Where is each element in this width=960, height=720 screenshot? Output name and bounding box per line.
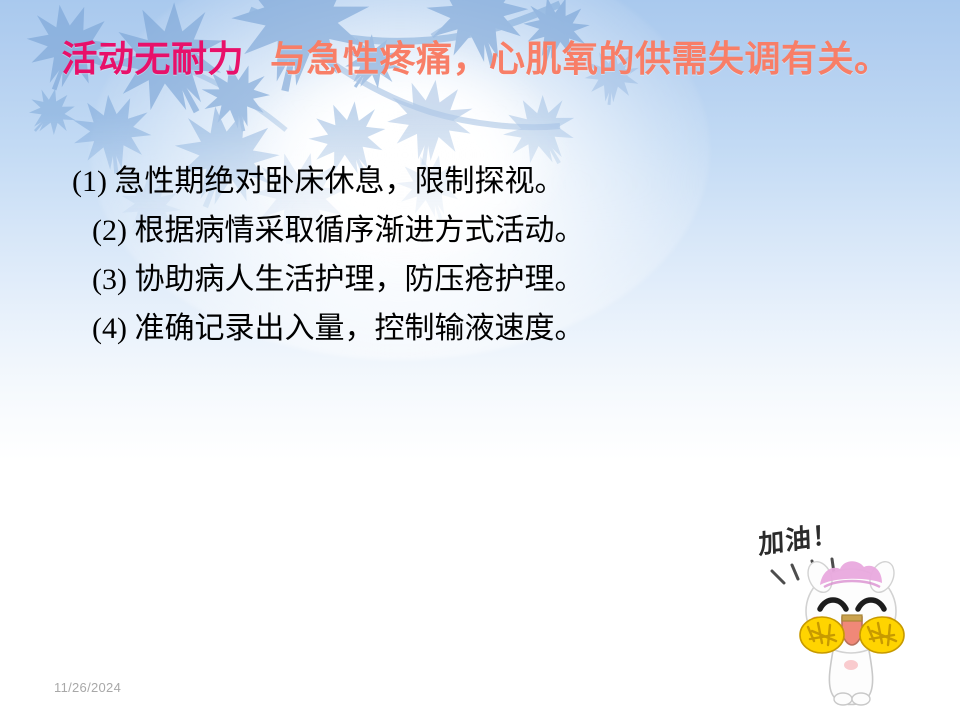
title-highlight: 活动无耐力	[61, 39, 244, 80]
list-item: (1) 急性期绝对卧床休息，限制探视。	[72, 158, 872, 207]
list-item: (2) 根据病情采取循序渐进方式活动。	[72, 207, 872, 256]
list-item: (3) 协助病人生活护理，防压疮护理。	[72, 256, 872, 305]
slide-title: 活动无耐力与急性疼痛，心肌氧的供需失调有关。	[52, 40, 900, 80]
cheerleader-bunny-icon: 加油！	[748, 515, 948, 710]
title-rest: 与急性疼痛，心肌氧的供需失调有关。	[270, 39, 891, 80]
list-item: (4) 准确记录出入量，控制输液速度。	[72, 305, 872, 354]
footer-date: 11/26/2024	[54, 680, 121, 695]
content-list: (1) 急性期绝对卧床休息，限制探视。 (2) 根据病情采取循序渐进方式活动。 …	[72, 158, 872, 354]
slide-canvas: 活动无耐力与急性疼痛，心肌氧的供需失调有关。 (1) 急性期绝对卧床休息，限制探…	[0, 0, 960, 720]
